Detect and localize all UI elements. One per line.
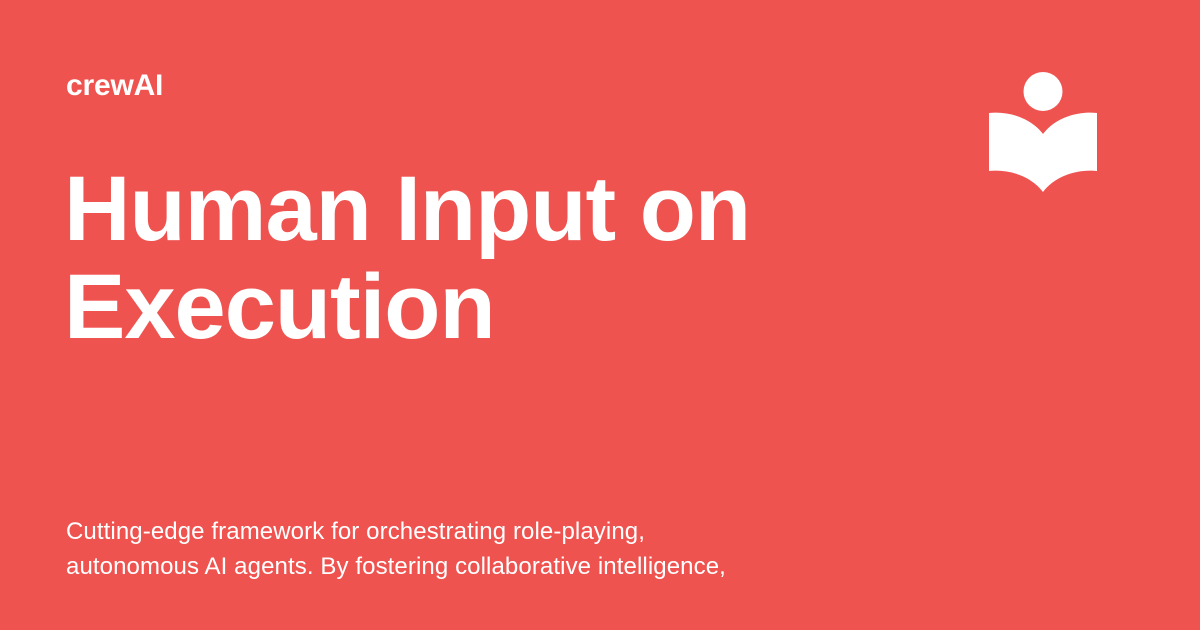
description-line: Cutting-edge framework for orchestrating… (66, 514, 886, 549)
description-line: autonomous AI agents. By fostering colla… (66, 549, 886, 584)
open-book-reader-icon (985, 66, 1105, 198)
page-description: Cutting-edge framework for orchestrating… (66, 514, 886, 584)
page-title: Human Input on Execution (64, 160, 824, 356)
open-graph-card: crewAI Human Input on Execution Cutting-… (0, 0, 1200, 630)
brand-wordmark: crewAI (66, 71, 163, 101)
